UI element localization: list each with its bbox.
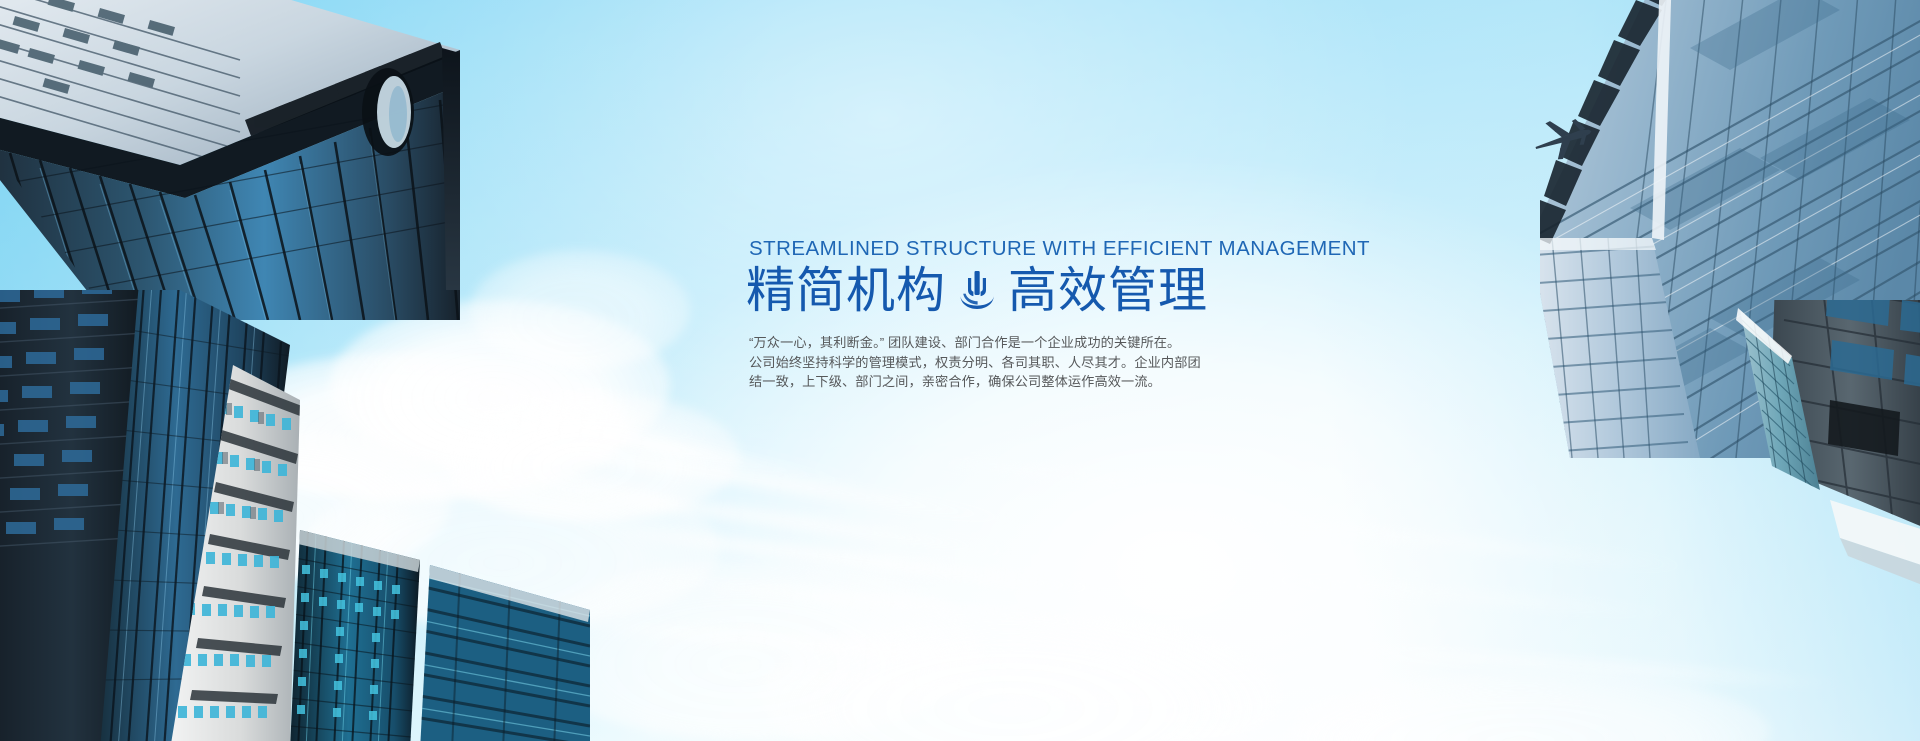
banner-headline: 精简机构 高效管理 xyxy=(746,263,1346,320)
lower-left-skyscrapers xyxy=(0,290,590,741)
headline-left-text: 精简机构 xyxy=(746,263,946,320)
brand-mark-icon xyxy=(957,269,997,313)
banner-eyebrow: STREAMLINED STRUCTURE WITH EFFICIENT MAN… xyxy=(749,238,1346,261)
paragraph-line-2: 公司始终坚持科学的管理模式，权责分明、各司其职、人尽其才。企业内部团 xyxy=(749,353,1346,373)
airplane-icon xyxy=(1528,112,1606,162)
banner-paragraph: “万众一心，其利断金。” 团队建设、部门合作是一个企业成功的关键所在。 公司始终… xyxy=(749,333,1346,392)
hero-banner: STREAMLINED STRUCTURE WITH EFFICIENT MAN… xyxy=(0,0,1920,741)
lower-right-skyscraper xyxy=(1680,300,1920,741)
paragraph-line-3: 结一致，上下级、部门之间，亲密合作，确保公司整体运作高效一流。 xyxy=(749,372,1346,392)
left-skyscraper xyxy=(0,0,460,320)
headline-right-text: 高效管理 xyxy=(1008,263,1208,320)
banner-copy: STREAMLINED STRUCTURE WITH EFFICIENT MAN… xyxy=(746,238,1346,392)
paragraph-line-1: “万众一心，其利断金。” 团队建设、部门合作是一个企业成功的关键所在。 xyxy=(749,333,1346,353)
